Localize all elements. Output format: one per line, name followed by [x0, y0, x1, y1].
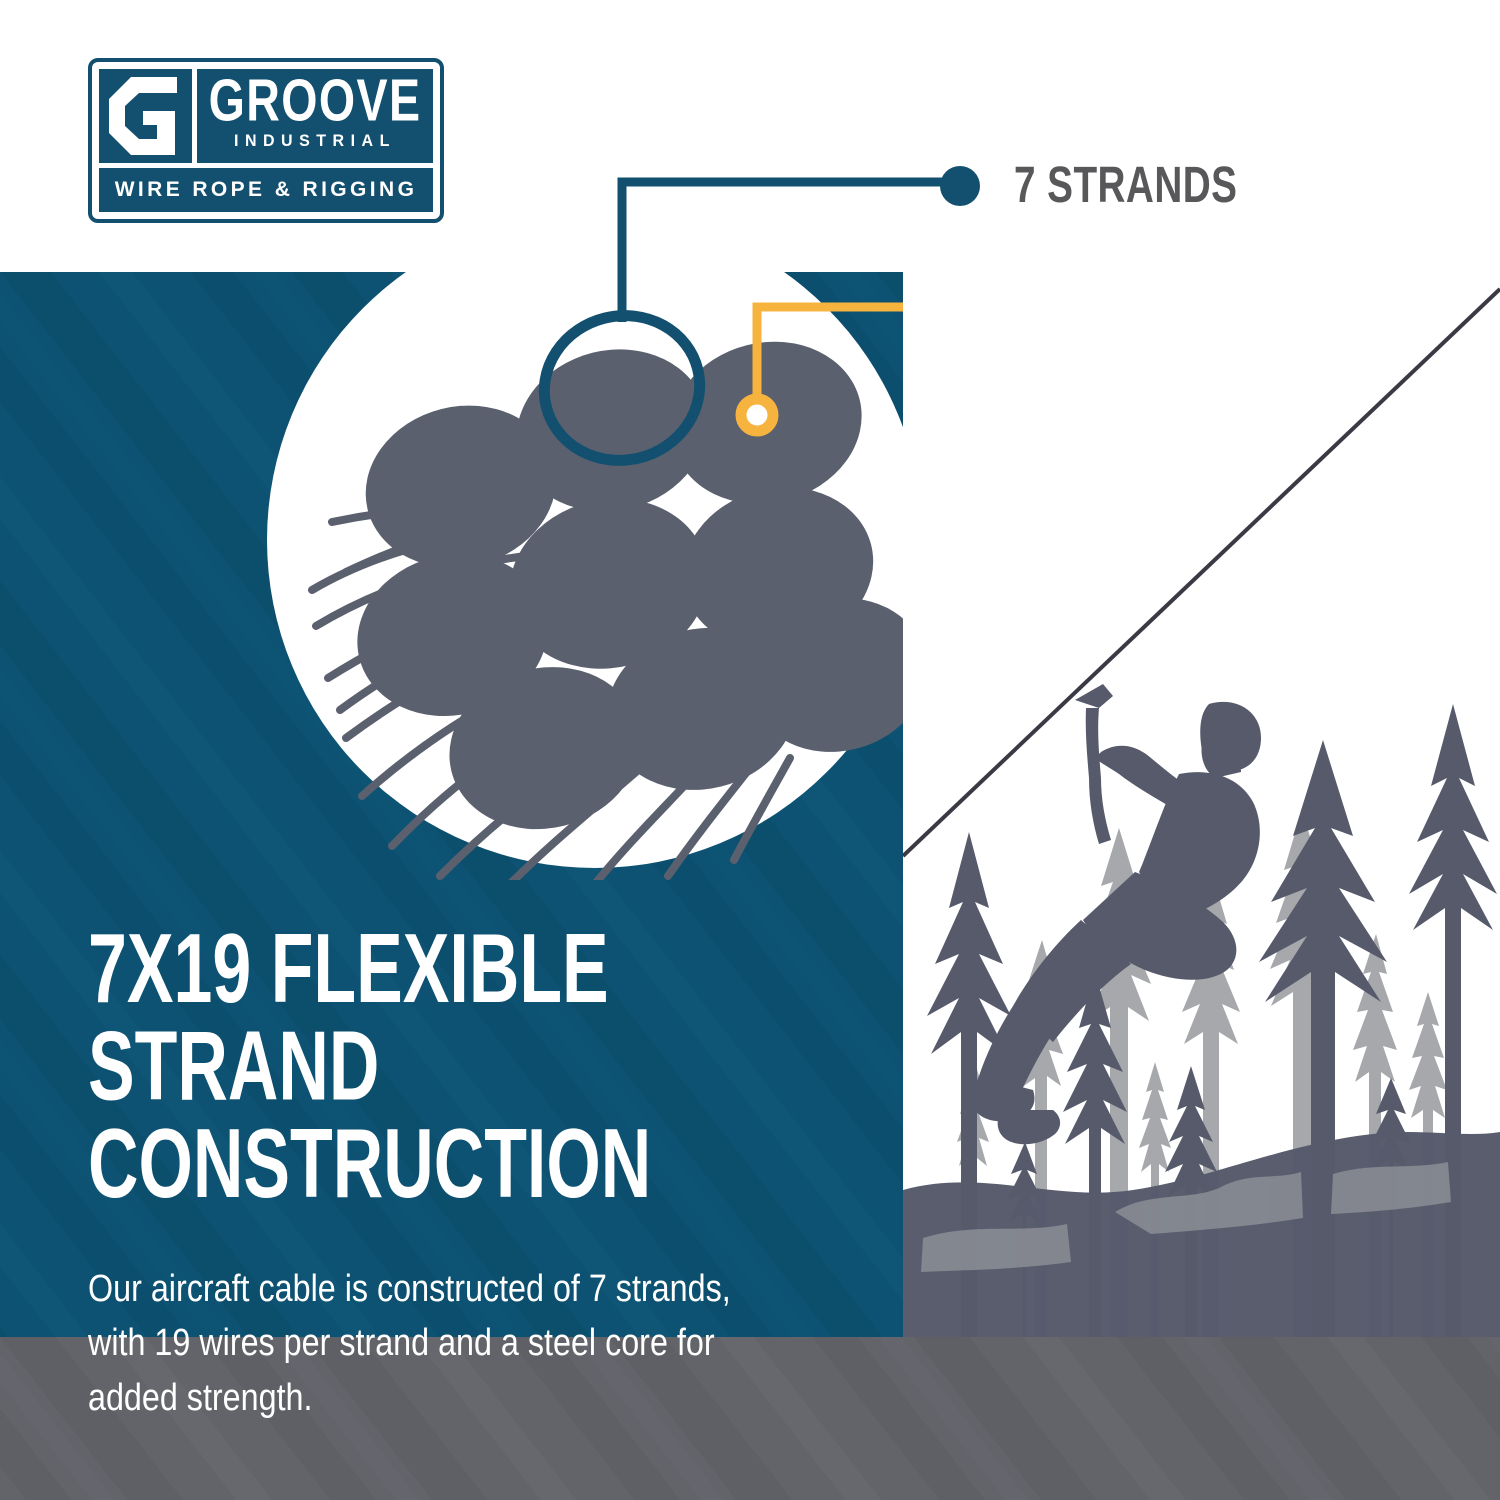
logo-tagline-bar: WIRE ROPE & RIGGING: [99, 168, 433, 212]
logo-brand-sub: INDUSTRIAL: [234, 133, 396, 152]
logo-brand-name: GROOVE: [209, 74, 422, 129]
infographic-canvas: GROOVE INDUSTRIAL WIRE ROPE & RIGGING 7 …: [0, 0, 1500, 1500]
page-title: 7X19 FLEXIBLE STRAND CONSTRUCTION: [88, 920, 806, 1213]
callout-7-strands: 7 STRANDS: [940, 161, 1268, 211]
headline-line-1: 7X19 FLEXIBLE: [88, 914, 609, 1025]
logo-tagline: WIRE ROPE & RIGGING: [115, 178, 418, 202]
orange-ring-marker: [741, 399, 773, 431]
headline-block: 7X19 FLEXIBLE STRAND CONSTRUCTION Our ai…: [88, 920, 868, 1407]
groove-g-monogram-icon: [99, 69, 192, 163]
brand-logo[interactable]: GROOVE INDUSTRIAL WIRE ROPE & RIGGING: [88, 58, 444, 223]
blue-dot-marker-icon: [940, 166, 980, 206]
zipline-rider-over-forest: [903, 272, 1500, 1337]
callout-label-strands: 7 STRANDS: [1014, 157, 1237, 215]
headline-body-copy: Our aircraft cable is constructed of 7 s…: [88, 1262, 763, 1424]
logo-wordmark: GROOVE INDUSTRIAL: [197, 69, 433, 163]
headline-line-2: STRAND CONSTRUCTION: [88, 1018, 806, 1214]
